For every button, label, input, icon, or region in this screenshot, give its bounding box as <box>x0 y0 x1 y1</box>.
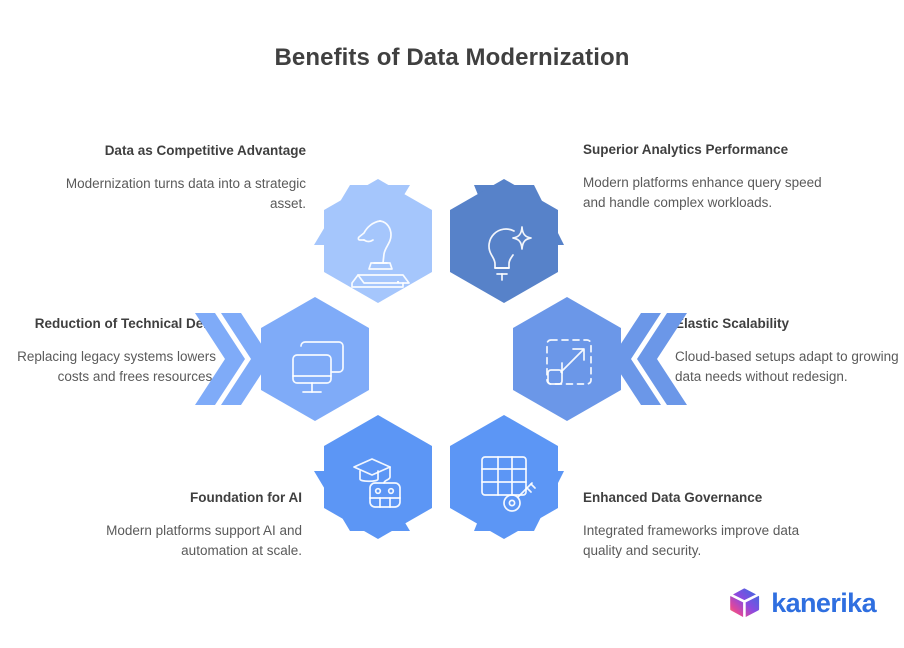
brand-wordmark: kanerika <box>771 588 876 619</box>
page-title: Benefits of Data Modernization <box>0 44 904 72</box>
benefit-text-elastic-scalability: Elastic Scalability Cloud-based setups a… <box>675 315 900 387</box>
benefit-heading: Data as Competitive Advantage <box>54 142 306 160</box>
benefit-text-technical-debt: Reduction of Technical Debt Replacing le… <box>10 315 216 387</box>
benefit-heading: Superior Analytics Performance <box>583 141 833 159</box>
hexagon-foundation-ai[interactable] <box>318 411 438 541</box>
hexagon-elastic-scalability[interactable] <box>507 293 627 423</box>
hexagon-cluster <box>230 165 670 560</box>
benefit-body: Replacing legacy systems lowers costs an… <box>10 347 216 388</box>
hexagon-data-governance[interactable] <box>444 411 564 541</box>
benefit-heading: Elastic Scalability <box>675 315 900 333</box>
hexagon-analytics-performance[interactable] <box>444 175 564 305</box>
benefit-body: Cloud-based setups adapt to growing data… <box>675 347 900 388</box>
brand-logo: kanerika <box>728 586 876 620</box>
cube-icon <box>728 586 762 620</box>
benefit-heading: Reduction of Technical Debt <box>10 315 216 333</box>
hexagon-technical-debt[interactable] <box>255 293 375 423</box>
infographic-canvas: Benefits of Data Modernization Data as C… <box>0 0 904 648</box>
hexagon-competitive-advantage[interactable] <box>318 175 438 305</box>
